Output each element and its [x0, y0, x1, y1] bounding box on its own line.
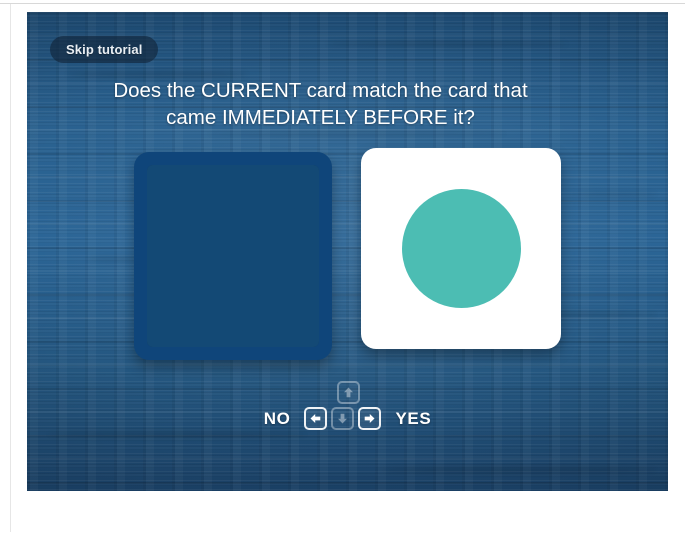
page-top-divider: [0, 3, 685, 4]
previous-card-face-down: [134, 152, 332, 360]
key-row-bottom: NO YES: [264, 407, 432, 430]
skip-tutorial-button[interactable]: Skip tutorial: [50, 36, 158, 63]
game-stage: Skip tutorial Does the CURRENT card matc…: [27, 12, 668, 491]
arrow-up-key[interactable]: [337, 381, 360, 404]
arrow-right-key[interactable]: [358, 407, 381, 430]
page-root: Skip tutorial Does the CURRENT card matc…: [0, 0, 685, 536]
card-shape-circle: [402, 189, 521, 308]
page-left-divider: [10, 4, 11, 532]
skip-tutorial-label: Skip tutorial: [66, 42, 142, 57]
tutorial-prompt: Does the CURRENT card match the card tha…: [60, 77, 581, 131]
card-back-pattern: [147, 165, 319, 347]
current-card-face-up: [361, 148, 561, 349]
prompt-line-1: Does the CURRENT card match the card tha…: [60, 77, 581, 104]
key-row-top: [335, 381, 362, 404]
arrow-left-key[interactable]: [304, 407, 327, 430]
prompt-line-2: came IMMEDIATELY BEFORE it?: [60, 104, 581, 131]
arrow-down-key[interactable]: [331, 407, 354, 430]
answer-controls: NO YES: [27, 381, 668, 430]
answer-yes-label: YES: [395, 409, 431, 429]
answer-no-label: NO: [264, 409, 291, 429]
